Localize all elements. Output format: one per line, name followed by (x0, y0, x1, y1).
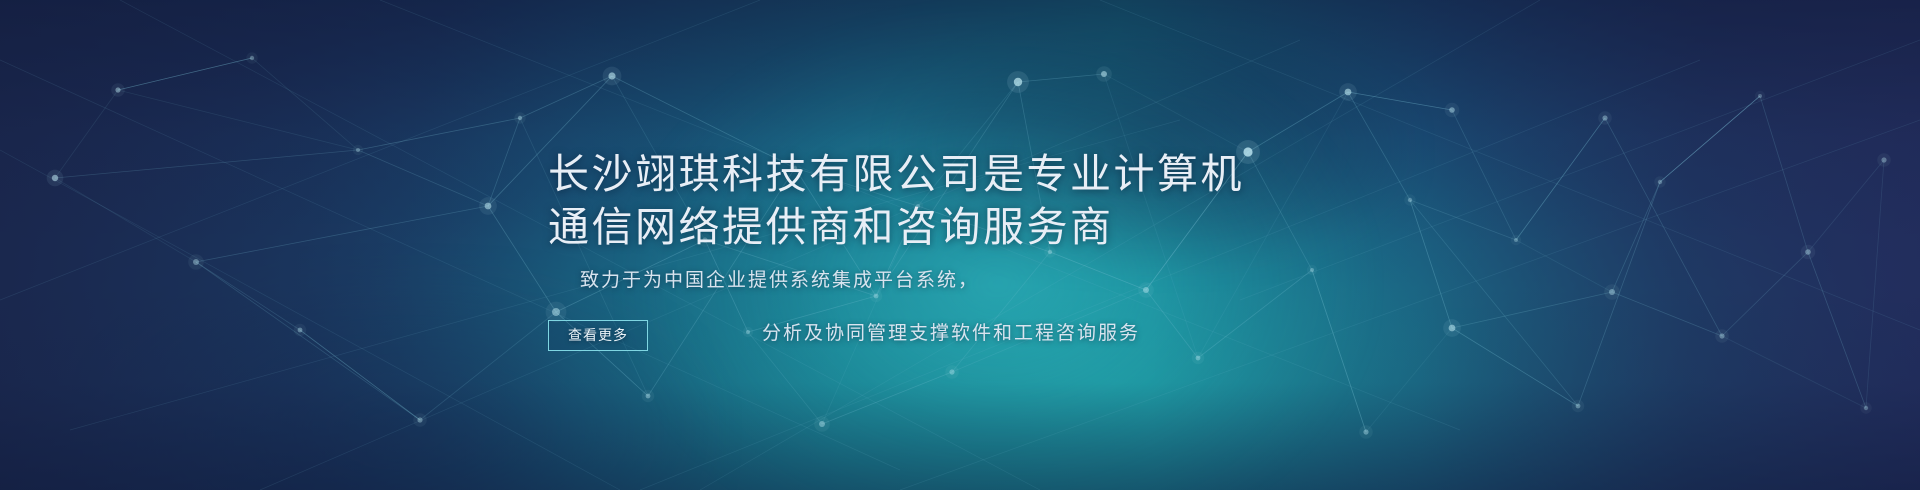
headline-line-2: 通信网络提供商和咨询服务商 (548, 201, 1244, 254)
subtitle-line-2: 分析及协同管理支撑软件和工程咨询服务 (762, 318, 1140, 345)
view-more-button[interactable]: 查看更多 (548, 320, 648, 351)
headline-line-1: 长沙翊琪科技有限公司是专业计算机 (548, 148, 1244, 201)
subtitle-line-1: 致力于为中国企业提供系统集成平台系统， (580, 265, 979, 292)
banner-content: 长沙翊琪科技有限公司是专业计算机 通信网络提供商和咨询服务商 致力于为中国企业提… (0, 0, 1920, 490)
hero-banner: 长沙翊琪科技有限公司是专业计算机 通信网络提供商和咨询服务商 致力于为中国企业提… (0, 0, 1920, 490)
headline: 长沙翊琪科技有限公司是专业计算机 通信网络提供商和咨询服务商 (548, 148, 1244, 254)
